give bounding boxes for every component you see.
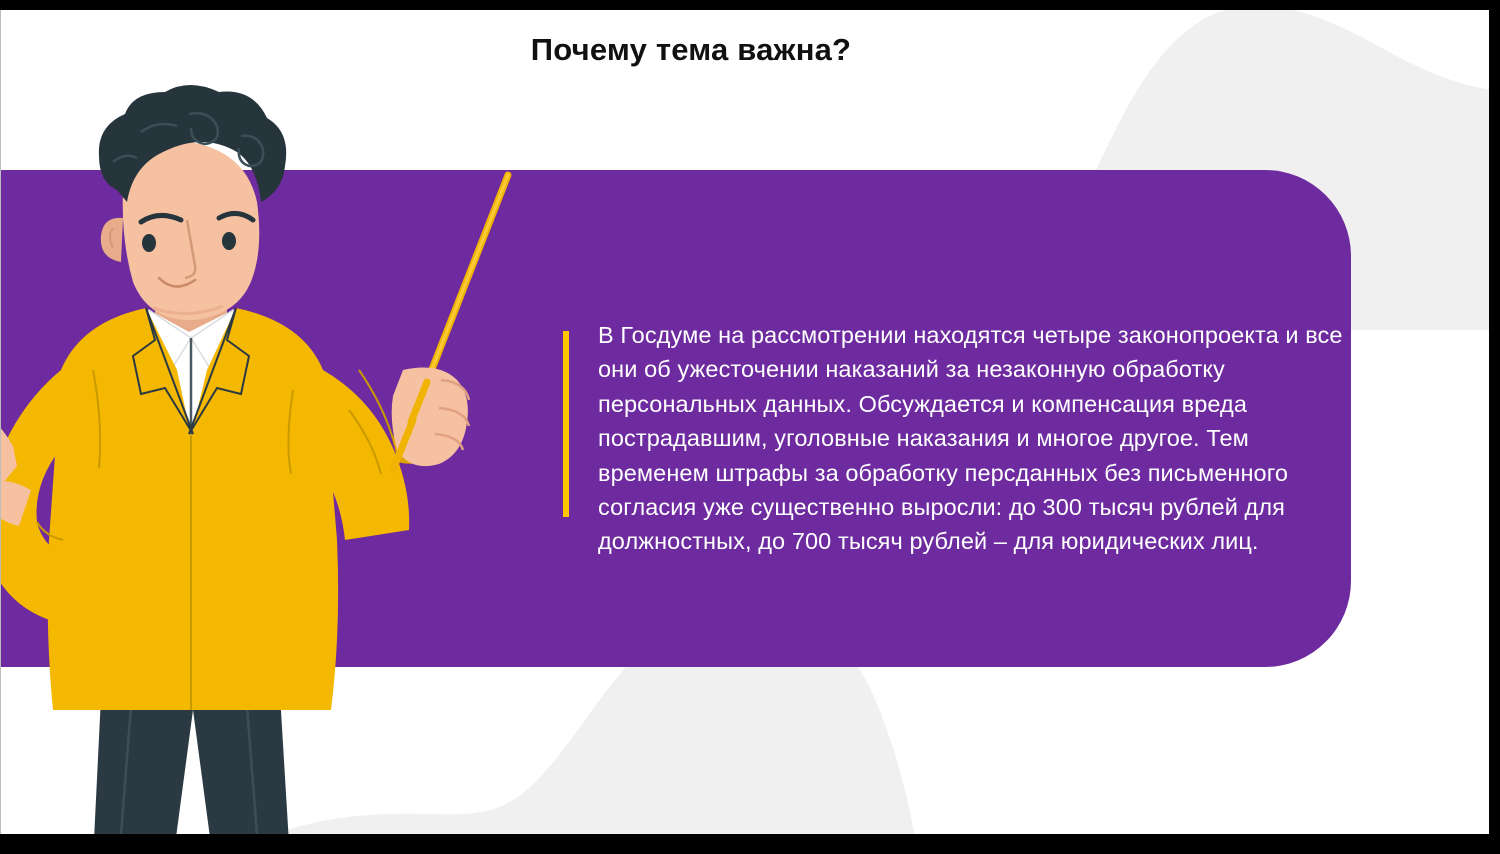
page-title: Почему тема важна? <box>1 32 1381 68</box>
accent-bar <box>563 331 569 517</box>
screenshot-frame: Почему тема важна? В Госдуме на рассмотр… <box>0 0 1500 854</box>
body-paragraph: В Госдуме на рассмотрении находятся четы… <box>598 318 1358 559</box>
slide-canvas: Почему тема важна? В Госдуме на рассмотр… <box>0 10 1489 834</box>
